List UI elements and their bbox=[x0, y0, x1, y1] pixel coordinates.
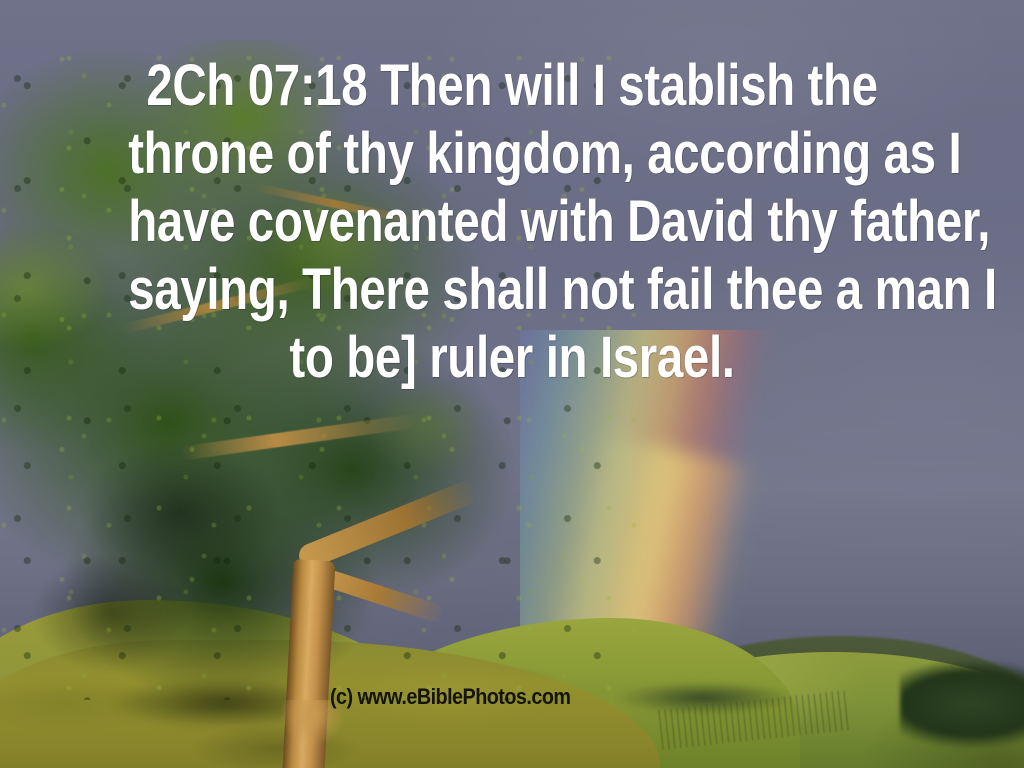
scripture-image: 2Ch 07:18 Then will I stablish the thron… bbox=[0, 0, 1024, 768]
tree-trunk-base bbox=[272, 700, 352, 768]
verse-line-2: throne of thy kingdom, according as I bbox=[128, 120, 896, 188]
verse-line-4: saying, There shall not fail thee a man … bbox=[128, 256, 896, 324]
watermark-credit: (c) www.eBiblePhotos.com bbox=[330, 684, 570, 710]
verse-overlay: 2Ch 07:18 Then will I stablish the thron… bbox=[0, 52, 1024, 392]
verse-line-1: 2Ch 07:18 Then will I stablish the bbox=[128, 52, 896, 120]
treeline-right bbox=[900, 638, 1024, 748]
verse-line-3: have covenanted with David thy father, bbox=[128, 188, 896, 256]
verse-line-5: to be] ruler in Israel. bbox=[128, 324, 896, 392]
